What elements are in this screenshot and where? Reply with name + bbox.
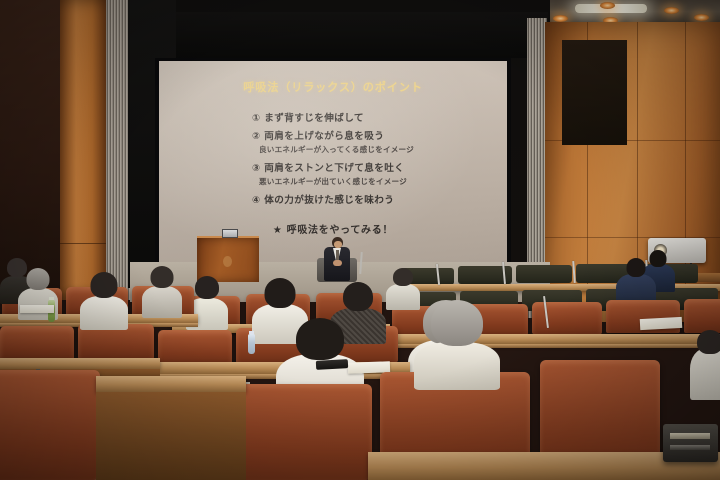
slide-subitem: 良いエネルギーが入ってくる感じをイメージ [259, 144, 414, 155]
console-slot [670, 445, 710, 450]
eyeglass-case [316, 359, 348, 370]
ceiling-downlight [664, 7, 679, 14]
attendee-left-rear-row [142, 266, 182, 318]
seat-row [532, 302, 602, 334]
slide-body-list: ① まず背すじを伸ばして ② 両肩を上げながら息を吸う 良いエネルギーが入ってく… [252, 110, 414, 210]
ceiling-downlight [600, 2, 615, 9]
ceiling-downlight [694, 14, 709, 21]
left-acoustic-grille [106, 0, 130, 300]
attendee-front-left [80, 272, 128, 330]
upper-dark-panel [160, 12, 548, 58]
seat-row [516, 265, 572, 283]
seat-row [0, 370, 100, 480]
left-wood-column [60, 0, 106, 300]
slide-subitem: 悪いエネルギーが出ていく感じをイメージ [259, 176, 414, 187]
attendee-far-right [690, 330, 720, 400]
water-bottle [248, 334, 255, 354]
slide-item: ② 両肩を上げながら息を吸う [252, 128, 414, 142]
slide-call-to-action: ★ 呼吸法をやってみる！ [169, 221, 497, 236]
attendee-foreground-right [414, 300, 500, 390]
right-wall-dark-panel [562, 40, 627, 145]
lecture-hall-scene: 呼吸法（リラックス）のポイント ① まず背すじを伸ばして ② 両肩を上げながら息… [0, 0, 720, 480]
seat-row [0, 326, 74, 360]
desk-row [0, 358, 160, 369]
ceiling-downlight [553, 15, 568, 22]
desk-row [96, 376, 246, 392]
presenter [324, 237, 350, 281]
desk-front-panel [96, 392, 246, 480]
document-papers [20, 305, 54, 313]
slide-item: ① まず背すじを伸ばして [252, 110, 414, 124]
slide-item: ③ 両肩をストンと下げて息を吐く [252, 160, 414, 174]
document-papers [640, 317, 683, 330]
seat-row [232, 384, 372, 480]
console-slot [670, 433, 710, 439]
seat-row [158, 330, 232, 364]
seat-row [684, 299, 720, 333]
laptop-on-podium [222, 229, 238, 238]
slide-item: ④ 体の力が抜けた感じを味わう [252, 192, 414, 206]
slide-title: 呼吸法（リラックス）のポイント [169, 79, 497, 95]
audio-console[interactable] [663, 424, 718, 462]
